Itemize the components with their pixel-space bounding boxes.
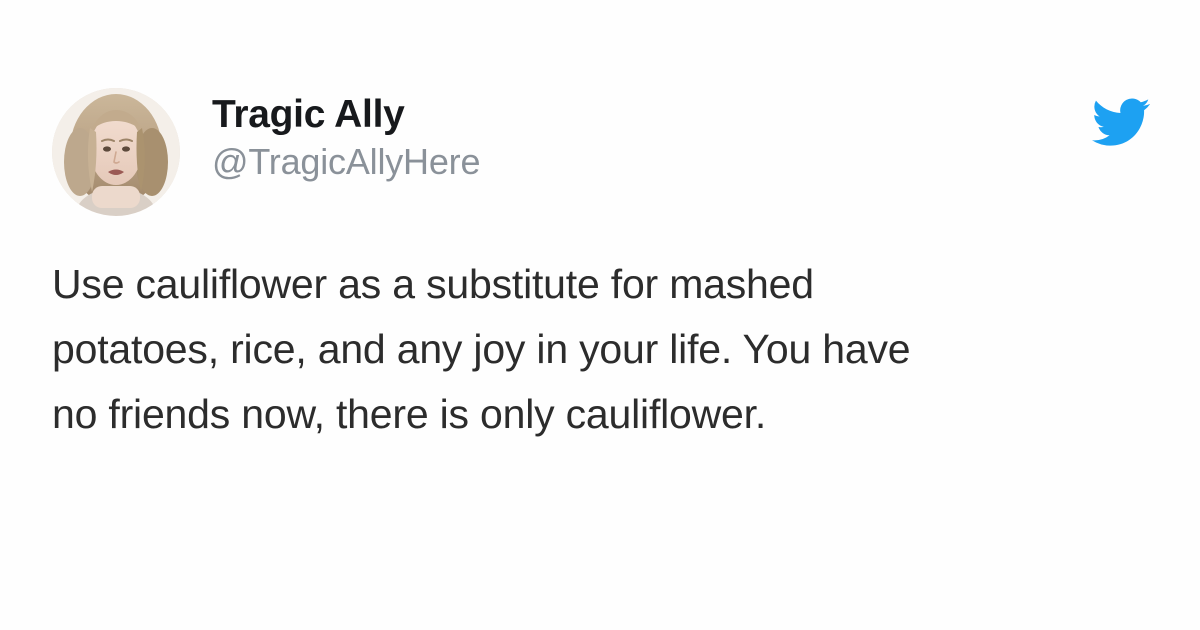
tweet-text-line: potatoes, rice, and any joy in your life… <box>52 317 1162 382</box>
tweet-text-line: Use cauliflower as a substitute for mash… <box>52 252 1162 317</box>
tweet-header: Tragic Ally @TragicAllyHere <box>52 88 1152 218</box>
handle[interactable]: @TragicAllyHere <box>212 142 480 182</box>
twitter-bird-icon <box>1092 93 1150 151</box>
tweet-text: Use cauliflower as a substitute for mash… <box>52 252 1162 447</box>
tweet-text-line: no friends now, there is only cauliflowe… <box>52 382 1162 447</box>
avatar-image <box>52 88 180 216</box>
avatar[interactable] <box>52 88 180 216</box>
display-name[interactable]: Tragic Ally <box>212 94 480 136</box>
author-identity: Tragic Ally @TragicAllyHere <box>212 88 480 182</box>
tweet-card: Tragic Ally @TragicAllyHere Use cauliflo… <box>0 0 1200 630</box>
